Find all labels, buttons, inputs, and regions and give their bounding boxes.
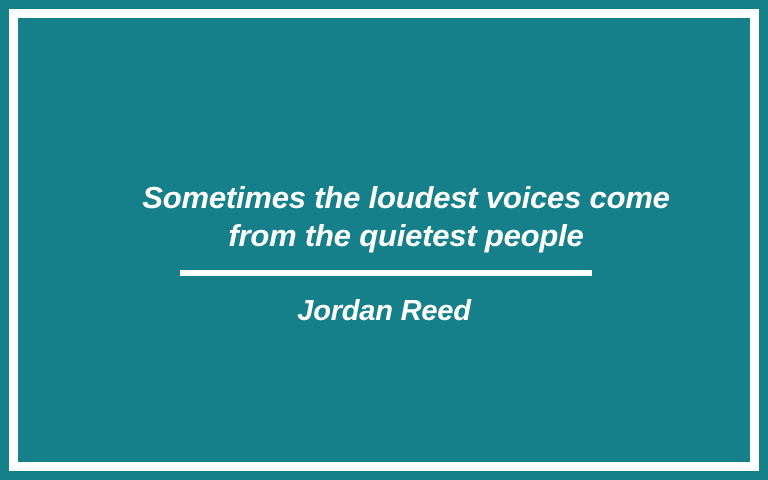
quote-card: Sometimes the loudest voices come from t… xyxy=(0,0,768,480)
quote-block: Sometimes the loudest voices come from t… xyxy=(86,179,726,255)
quote-card-content: Sometimes the loudest voices come from t… xyxy=(0,0,768,480)
divider-rule xyxy=(180,270,592,276)
divider-container xyxy=(0,270,768,276)
quote-text: Sometimes the loudest voices come from t… xyxy=(86,179,726,255)
author-name: Jordan Reed xyxy=(297,295,470,328)
author-container: Jordan Reed xyxy=(0,295,768,328)
